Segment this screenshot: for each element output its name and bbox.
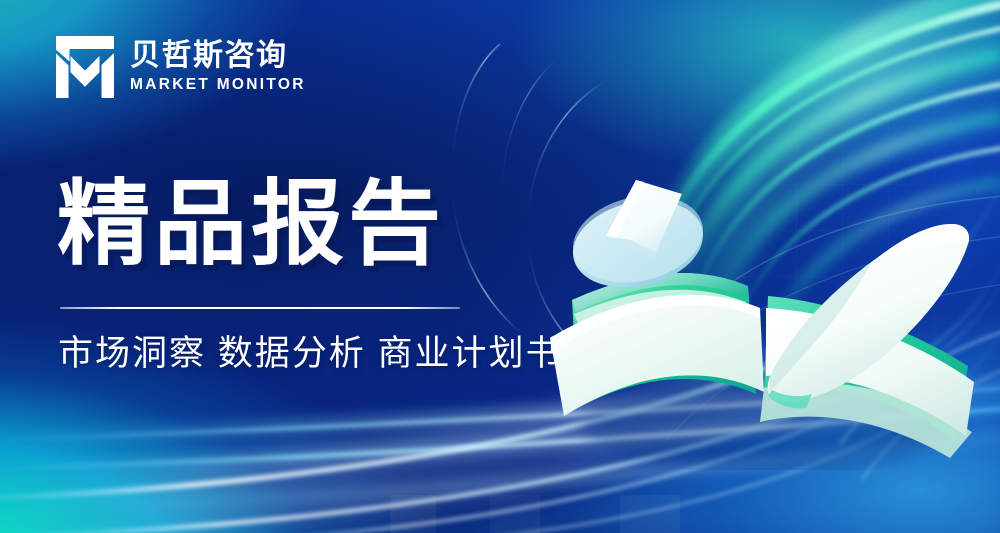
brand-name-en: MARKET MONITOR (130, 77, 306, 93)
subheading-text: 市场洞察 数据分析 商业计划书 (58, 333, 562, 375)
report-banner: 贝哲斯咨询 MARKET MONITOR 精品报告 市场洞察 数据分析 商业计划… (0, 0, 1000, 533)
headline-divider (60, 307, 460, 309)
headline-title: 精品报告 (57, 176, 445, 274)
open-book-illustration (520, 140, 990, 470)
brand-text: 贝哲斯咨询 MARKET MONITOR (130, 41, 306, 93)
brand-name-cn: 贝哲斯咨询 (130, 41, 306, 71)
market-monitor-m-icon (56, 36, 114, 98)
brand-logo[interactable]: 贝哲斯咨询 MARKET MONITOR (56, 36, 306, 98)
